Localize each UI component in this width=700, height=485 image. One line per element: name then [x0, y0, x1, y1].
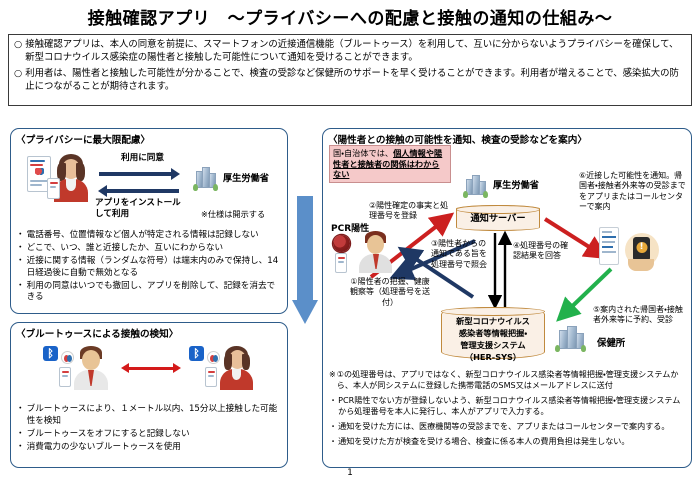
- install-arrow-head: [98, 185, 107, 197]
- hand-holding-phone-icon: !: [633, 237, 650, 261]
- contact-arrow-shaft: [129, 367, 173, 370]
- list-item: ・消費電力の少ないブルートゥースを使用: [16, 442, 282, 454]
- notified-phone-icon: [599, 227, 619, 265]
- summary-item: ○ 利用者は、陽性者と接触した可能性が分かることで、検査の受診など保健所のサポー…: [14, 67, 686, 94]
- install-arrow-label-line2: して利用: [95, 209, 129, 220]
- spec-disclosure-note: ※仕様は開示する: [201, 208, 265, 220]
- note-text: 通知を受けた方が検査を受ける場合、検査に係る本人の費用負担は発生しない。: [338, 436, 687, 447]
- notification-server-node: 通知サーバー: [456, 205, 540, 231]
- smartphone-icon: [205, 367, 217, 387]
- her-sys-node: 新型コロナウイルス 感染者等情報把握・ 管理支援システム （HER-SYS）: [441, 307, 545, 359]
- bullet-dot-icon: ・: [16, 230, 25, 242]
- ministry-building-icon: [193, 164, 219, 192]
- bluetooth-diagram: ᛒ ᛒ: [11, 340, 287, 396]
- note-mark: ・: [329, 395, 337, 406]
- note-text: PCR陽性でない方が登録しないよう、新型コロナウイルス感染者等情報把握・管理支援…: [338, 395, 687, 417]
- contact-arrow-head-right: [173, 363, 181, 373]
- bluetooth-bullet-list: ・ブルートゥースにより、１メートル以内、15分以上接触した可能性を検知 ・ブルー…: [16, 404, 282, 453]
- bluetooth-icon: ᛒ: [43, 346, 58, 361]
- positive-person-figure: [359, 231, 393, 273]
- list-item-text: ブルートゥースにより、１メートル以内、15分以上接触した可能性を検知: [27, 404, 282, 427]
- list-item-text: どこで、いつ、誰と近接したか、互いにわからない: [27, 243, 224, 255]
- contact-arrow-head-left: [121, 363, 129, 373]
- smartphone-icon: [335, 253, 347, 273]
- list-item: ・どこで、いつ、誰と近接したか、互いにわからない: [16, 243, 282, 255]
- list-item-text: ブルートゥースをオフにすると記録しない: [27, 429, 190, 441]
- list-item-text: 電話番号、位置情報など個人が特定される情報は記録しない: [27, 230, 259, 242]
- install-arrow-shaft: [107, 189, 179, 193]
- list-item: ・ブルートゥースにより、１メートル以内、15分以上接触した可能性を検知: [16, 404, 282, 427]
- privacy-bullet-list: ・電話番号、位置情報など個人が特定される情報は記録しない ・どこで、いつ、誰と近…: [16, 230, 282, 304]
- page-number: 1: [0, 468, 700, 478]
- note-mark: ※: [329, 369, 336, 380]
- notify-panel-title: 〈陽性者との接触の可能性を通知、検査の受診などを案内〉: [328, 132, 691, 146]
- list-item: ・利用の同意はいつでも撤回し、アプリを削除して、記録を消去できる: [16, 281, 282, 304]
- bullet-dot-icon: ・: [16, 256, 25, 268]
- summary-bullet-mark: ○: [14, 38, 22, 51]
- user-man-figure: [73, 346, 109, 390]
- annotation-step-2: ②陽性確定の事実と処理番号を登録: [369, 201, 453, 222]
- annotation-step-3: ③陽性者からの通知である旨を処理番号で照会: [431, 239, 487, 270]
- list-item: ・ブルートゥースをオフにすると記録しない: [16, 429, 282, 441]
- list-item: ・電話番号、位置情報など個人が特定される情報は記録しない: [16, 230, 282, 242]
- summary-item-text: 接触確認アプリは、本人の同意を前提に、スマートフォンの近接通信機能（ブルートゥー…: [25, 38, 686, 65]
- note-item: ・ 通知を受けた方が検査を受ける場合、検査に係る本人の費用負担は発生しない。: [329, 436, 687, 447]
- page-title: 接触確認アプリ ～プライバシーへの配慮と接触の通知の仕組み～: [0, 4, 700, 29]
- ministry-building-icon: [463, 171, 489, 199]
- list-item-text: 消費電力の少ないブルートゥースを使用: [27, 442, 181, 454]
- note-item: ・ PCR陽性でない方が登録しないよう、新型コロナウイルス感染者等情報把握・管理…: [329, 395, 687, 417]
- annotation-step-5: ⑤案内された帰国者・接触者外来等に予約、受診: [593, 305, 685, 326]
- alert-badge-icon: !: [636, 242, 647, 253]
- flow-connector-arrow: [292, 196, 318, 324]
- consent-arrow-label: 利用に同意: [121, 153, 164, 164]
- note-item: ・ 通知を受けた方には、医療機関等の受診までを、アプリまたはコールセンターで案内…: [329, 421, 687, 432]
- annotation-step-1: ①陽性者の把握、健康観察等（処理番号を送付）: [347, 277, 433, 308]
- list-item-text: 利用の同意はいつでも撤回し、アプリを削除して、記録を消去できる: [27, 281, 282, 304]
- annotation-step-4: ④処理番号の確認結果を回答: [513, 241, 575, 262]
- user-woman-figure: [219, 346, 255, 390]
- install-arrow-label-line1: アプリをインストール: [95, 198, 181, 209]
- consent-arrow-shaft: [99, 172, 171, 176]
- summary-item-text: 利用者は、陽性者と接触した可能性が分かることで、検査の受診など保健所のサポートを…: [25, 67, 686, 94]
- ministry-label: 厚生労働省: [223, 170, 269, 184]
- her-sys-line-1: 新型コロナウイルス: [442, 315, 544, 327]
- hand-shape: [628, 259, 654, 271]
- her-sys-line-3: 管理支援システム: [442, 339, 544, 351]
- note-text: 通知を受けた方には、医療機関等の受診までを、アプリまたはコールセンターで案内する…: [338, 421, 687, 432]
- health-center-building-icon: [555, 321, 589, 353]
- privacy-diagram: 利用に同意 アプリをインストール して利用 厚生労働省 ※仕様は開示する: [11, 146, 287, 228]
- privacy-panel-title: 〈プライバシーに最大限配慮〉: [16, 132, 287, 146]
- bluetooth-panel-title: 〈ブルートゥースによる接触の検知〉: [16, 326, 287, 340]
- bullet-dot-icon: ・: [16, 243, 25, 255]
- summary-item: ○ 接触確認アプリは、本人の同意を前提に、スマートフォンの近接通信機能（ブルート…: [14, 38, 686, 65]
- summary-box: ○ 接触確認アプリは、本人の同意を前提に、スマートフォンの近接通信機能（ブルート…: [8, 34, 692, 106]
- bullet-dot-icon: ・: [16, 281, 25, 293]
- her-sys-line-4: （HER-SYS）: [442, 351, 544, 363]
- slide-page: 接触確認アプリ ～プライバシーへの配慮と接触の通知の仕組み～ ○ 接触確認アプリ…: [0, 0, 700, 485]
- notify-notes-list: ※ ①の処理番号は、アプリではなく、新型コロナウイルス感染者等情報把握・管理支援…: [329, 369, 687, 451]
- bluetooth-panel: 〈ブルートゥースによる接触の検知〉 ᛒ ᛒ: [10, 322, 288, 468]
- privacy-disclaimer-box: 国・自治体では、個人情報や陽性者と接触者の関係はわからない: [329, 145, 451, 183]
- notify-panel: 〈陽性者との接触の可能性を通知、検査の受診などを案内〉 国・自治体では、個人情報…: [322, 128, 692, 468]
- note-item: ※ ①の処理番号は、アプリではなく、新型コロナウイルス感染者等情報把握・管理支援…: [329, 369, 687, 391]
- bluetooth-icon: ᛒ: [189, 346, 204, 361]
- smartphone-icon: [59, 367, 71, 387]
- privacy-panel: 〈プライバシーに最大限配慮〉: [10, 128, 288, 314]
- bullet-dot-icon: ・: [16, 429, 25, 441]
- smartphone-icon: [47, 178, 60, 199]
- virus-icon: [333, 235, 350, 252]
- health-center-label: 保健所: [597, 335, 625, 349]
- summary-bullet-mark: ○: [14, 67, 22, 80]
- consent-arrow-head: [171, 168, 180, 180]
- note-mark: ・: [329, 436, 337, 447]
- privacy-disclaimer-prefix: 国・自治体では、: [333, 148, 393, 158]
- list-item: ・近接に関する情報（ランダムな符号）は端末内のみで保持し、14日経過後に自動で無…: [16, 256, 282, 279]
- ministry-label: 厚生労働省: [493, 177, 539, 191]
- note-text: ①の処理番号は、アプリではなく、新型コロナウイルス感染者等情報把握・管理支援シス…: [337, 369, 687, 391]
- note-mark: ・: [329, 421, 337, 432]
- bullet-dot-icon: ・: [16, 442, 25, 454]
- annotation-step-6: ⑥近接した可能性を通知。帰国者・接触者外来等の受診までをアプリまたはコールセンタ…: [579, 171, 687, 213]
- notification-server-label: 通知サーバー: [457, 206, 539, 232]
- list-item-text: 近接に関する情報（ランダムな符号）は端末内のみで保持し、14日経過後に自動で無効…: [27, 256, 282, 279]
- her-sys-line-2: 感染者等情報把握・: [442, 327, 544, 339]
- bullet-dot-icon: ・: [16, 404, 25, 416]
